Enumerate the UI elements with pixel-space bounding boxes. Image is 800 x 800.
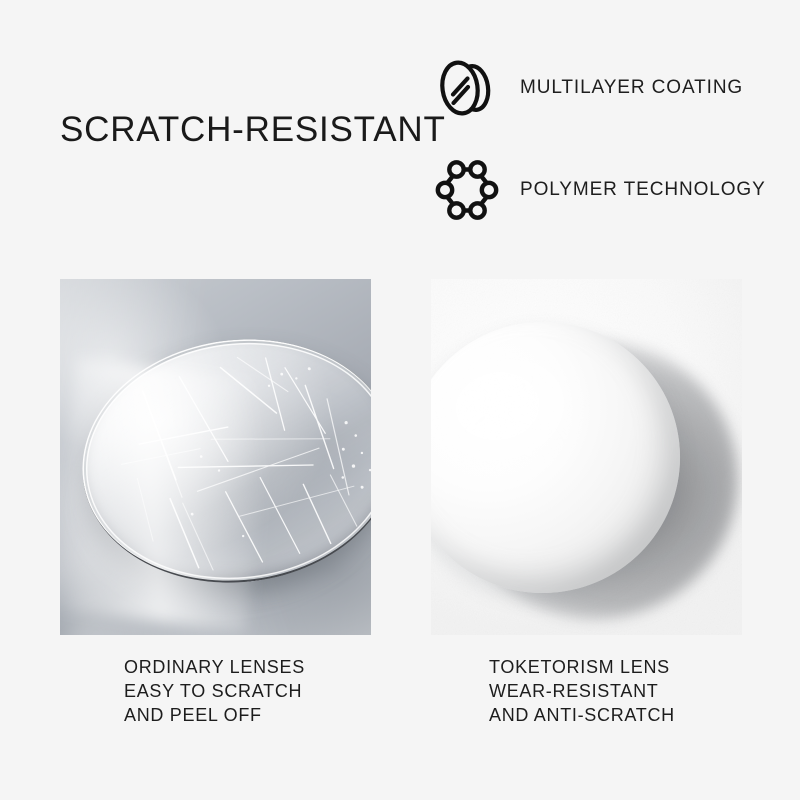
caption-toketorism-lens: TOKETORISM LENS WEAR-RESISTANT AND ANTI-… [489, 655, 675, 727]
product-feature-page: SCRATCH-RESISTANT MULTILAYER COATING [0, 0, 800, 800]
lens-highlight [434, 350, 593, 484]
feature-label: MULTILAYER COATING [520, 77, 743, 99]
lens-discs-icon [428, 49, 506, 127]
toketorism-lens-photo [431, 279, 742, 635]
feature-list: MULTILAYER COATING [428, 42, 766, 246]
feature-polymer-technology: POLYMER TECHNOLOGY [428, 144, 766, 236]
feature-label: POLYMER TECHNOLOGY [520, 179, 766, 201]
caption-ordinary-lens: ORDINARY LENSES EASY TO SCRATCH AND PEEL… [124, 655, 305, 727]
ordinary-lens-photo [60, 279, 371, 635]
page-title: SCRATCH-RESISTANT [60, 112, 446, 147]
polymer-molecule-icon [428, 151, 506, 229]
feature-multilayer-coating: MULTILAYER COATING [428, 42, 766, 134]
comparison-panels [60, 279, 742, 635]
